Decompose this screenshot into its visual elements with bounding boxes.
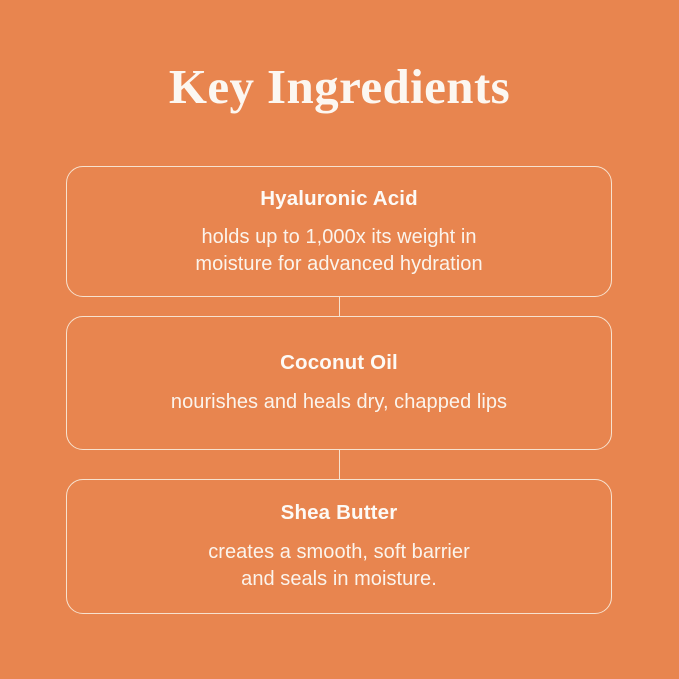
card-connector: [66, 297, 612, 316]
ingredient-card-stack: Hyaluronic Acid holds up to 1,000x its w…: [66, 166, 612, 614]
ingredient-description: holds up to 1,000x its weight in moistur…: [195, 224, 482, 278]
ingredient-card-hyaluronic-acid: Hyaluronic Acid holds up to 1,000x its w…: [66, 166, 612, 297]
ingredient-name: Hyaluronic Acid: [260, 186, 418, 212]
key-ingredients-infographic: Key Ingredients Hyaluronic Acid holds up…: [0, 0, 679, 679]
connector-line-icon: [339, 297, 340, 316]
connector-line-icon: [339, 450, 340, 479]
ingredient-name: Coconut Oil: [280, 350, 398, 376]
ingredient-card-shea-butter: Shea Butter creates a smooth, soft barri…: [66, 479, 612, 614]
ingredient-description: nourishes and heals dry, chapped lips: [171, 389, 507, 416]
ingredient-name: Shea Butter: [281, 500, 398, 526]
page-title: Key Ingredients: [0, 59, 679, 115]
ingredient-description: creates a smooth, soft barrier and seals…: [208, 539, 470, 593]
card-connector: [66, 450, 612, 479]
ingredient-card-coconut-oil: Coconut Oil nourishes and heals dry, cha…: [66, 316, 612, 450]
